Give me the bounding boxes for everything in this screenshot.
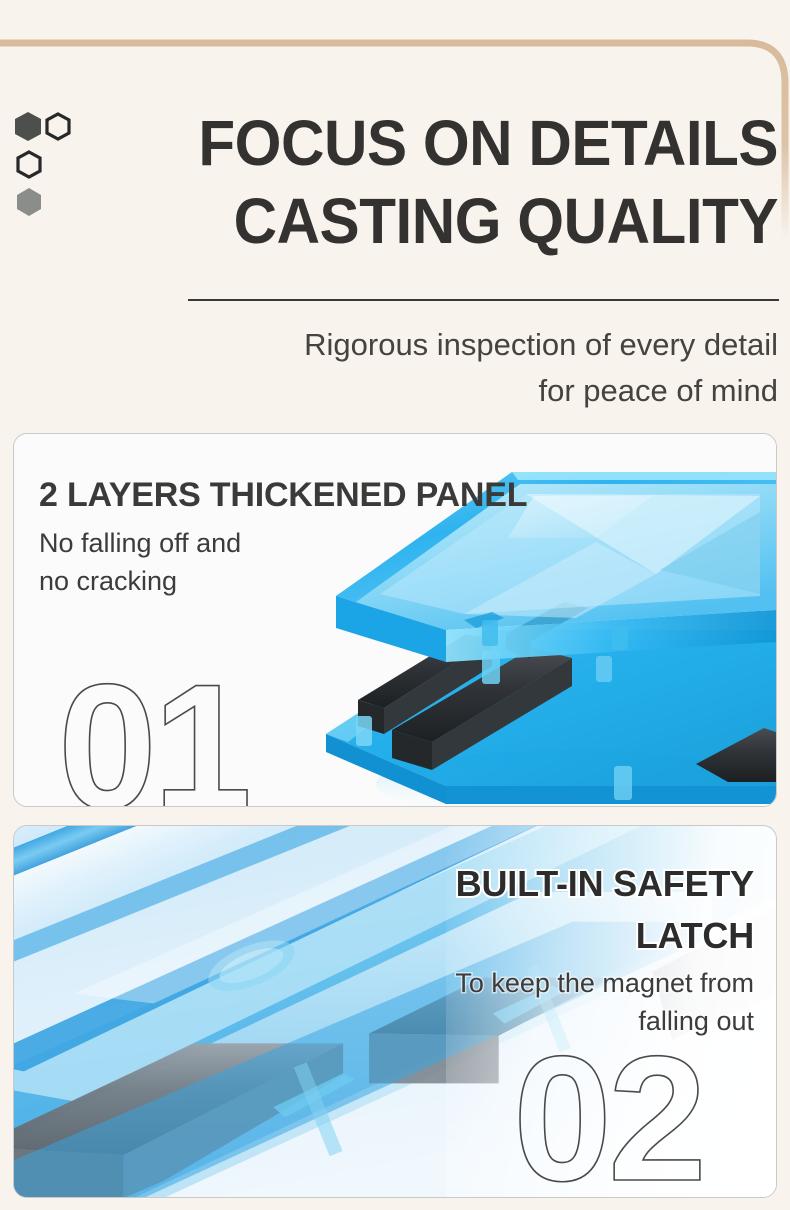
card-01-subtext-line-1: No falling off and (39, 524, 559, 562)
subtitle-line-2: for peace of mind (138, 368, 778, 414)
card-02-subtext-line-1: To keep the magnet from (254, 964, 754, 1002)
page-subtitle: Rigorous inspection of every detail for … (138, 322, 778, 414)
hexagon-outline-top-icon (47, 114, 69, 139)
feature-card-01: 2 LAYERS THICKENED PANEL No falling off … (13, 433, 777, 807)
card-01-index-text: 01 (58, 676, 248, 807)
hexagon-outline-mid-icon (18, 152, 40, 177)
title-line-2: CASTING QUALITY (120, 182, 778, 260)
card-01-subtext-line-2: no cracking (39, 562, 559, 600)
card-02-subtext: To keep the magnet from falling out (254, 964, 754, 1040)
card-01-text-block: 2 LAYERS THICKENED PANEL No falling off … (39, 470, 559, 600)
card-02-text-block: BUILT-IN SAFETY LATCH To keep the magnet… (254, 858, 754, 1040)
subtitle-line-1: Rigorous inspection of every detail (138, 322, 778, 368)
hexagon-filled-dark-icon (15, 112, 41, 141)
card-02-subtext-line-2: falling out (254, 1002, 754, 1040)
page-header: FOCUS ON DETAILS CASTING QUALITY Rigorou… (0, 0, 790, 425)
feature-card-02: BUILT-IN SAFETY LATCH To keep the magnet… (13, 825, 777, 1198)
card-01-subtext: No falling off and no cracking (39, 524, 559, 600)
hexagon-decoration-cluster (14, 112, 86, 218)
hexagon-filled-gray-icon (17, 188, 41, 216)
card-02-index-text: 02 (513, 1048, 703, 1198)
card-01-index-number: 01 (58, 676, 288, 807)
card-02-index-number: 02 (513, 1048, 728, 1198)
page-title: FOCUS ON DETAILS CASTING QUALITY (78, 104, 778, 260)
card-02-heading-line-2: LATCH (254, 910, 754, 962)
card-02-heading-line-1: BUILT-IN SAFETY (254, 858, 754, 910)
card-02-heading: BUILT-IN SAFETY LATCH (254, 858, 754, 962)
card-01-heading: 2 LAYERS THICKENED PANEL (39, 470, 559, 520)
title-divider (188, 299, 779, 301)
title-line-1: FOCUS ON DETAILS (120, 104, 778, 182)
